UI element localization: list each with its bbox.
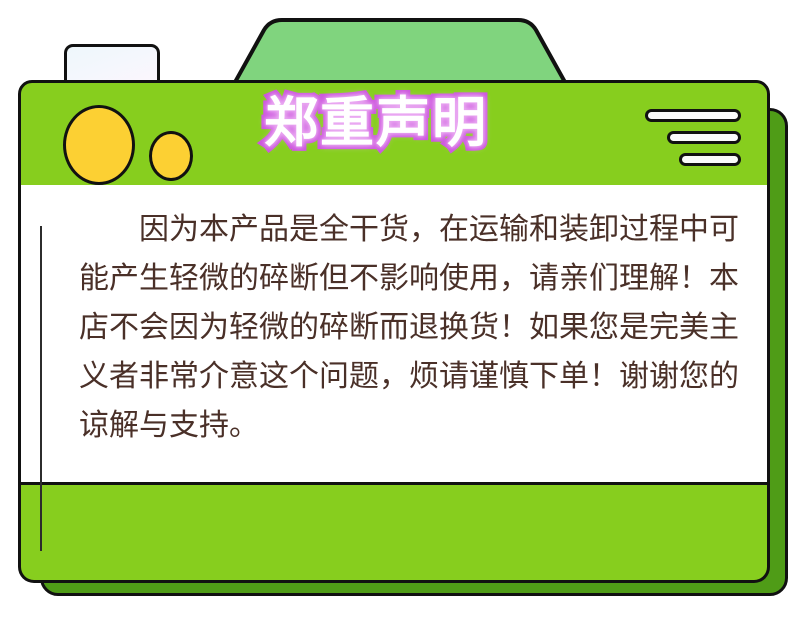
viewfinder-hump-shape — [224, 12, 576, 84]
card-footer-bar — [18, 485, 770, 583]
vertical-margin-rule — [40, 226, 42, 551]
content-panel: 因为本产品是全干货，在运输和装卸过程中可能产生轻微的碎断但不影响使用，请亲们理解… — [18, 185, 770, 485]
white-bar-group — [645, 109, 741, 166]
announcement-card: 郑重声明 因为本产品是全干货，在运输和装卸过程中可能产生轻微的碎断但不影响使用，… — [0, 0, 801, 619]
white-bar-2 — [667, 131, 741, 144]
announcement-body-text: 因为本产品是全干货，在运输和装卸过程中可能产生轻微的碎断但不影响使用，请亲们理解… — [79, 205, 739, 450]
white-bar-1 — [645, 109, 741, 122]
small-lens-circle — [149, 131, 193, 181]
card-header-bar — [18, 80, 770, 188]
large-lens-circle — [63, 105, 135, 185]
white-bar-3 — [679, 153, 741, 166]
